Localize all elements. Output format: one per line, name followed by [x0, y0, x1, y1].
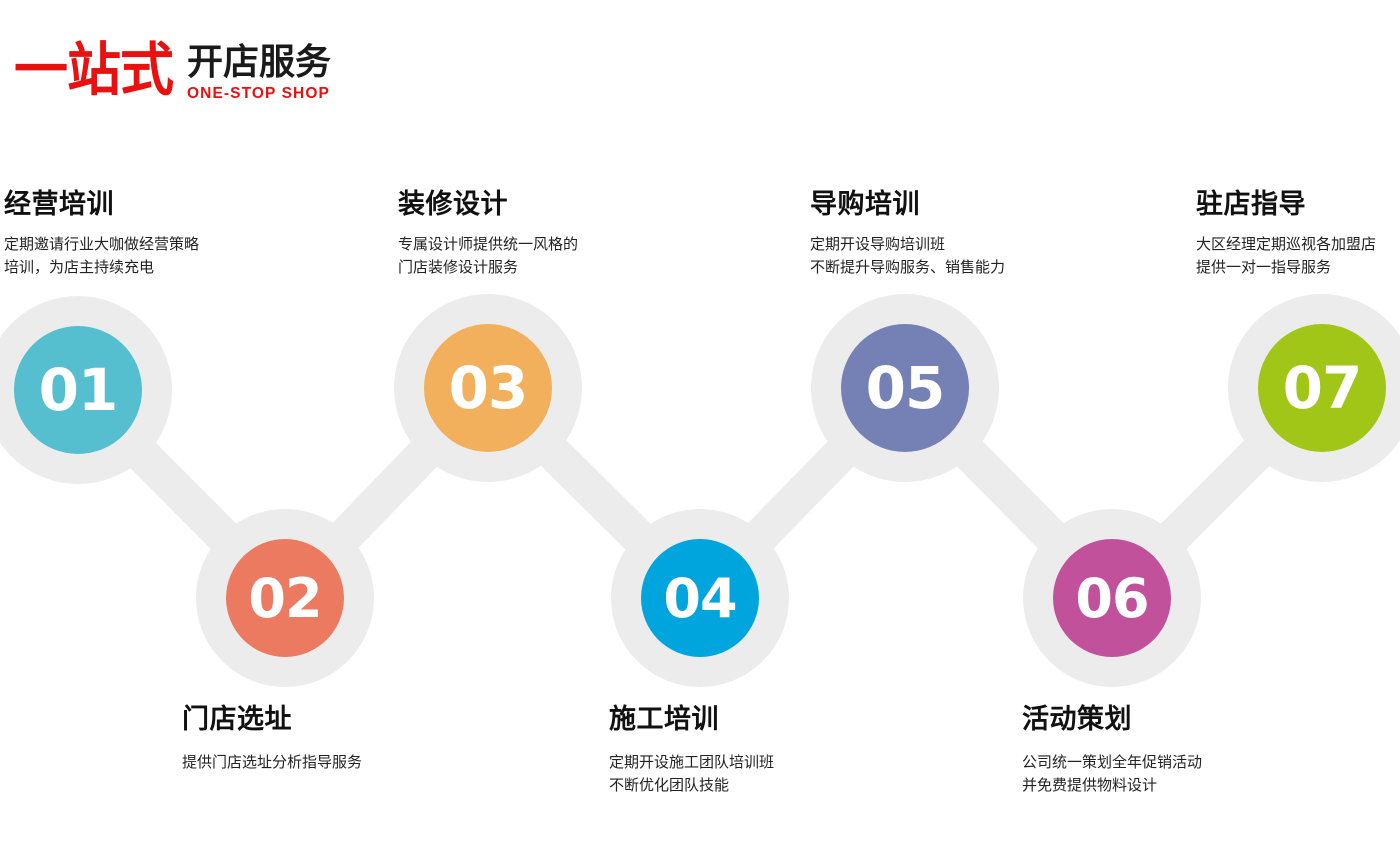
step-text-05: 导购培训 定期开设导购培训班 不断提升导购服务、销售能力 — [810, 190, 1210, 279]
step-bubble-07[interactable]: 07 — [1258, 324, 1386, 452]
step-title-01: 经营培训 — [4, 190, 374, 220]
step-desc-01: 定期邀请行业大咖做经营策略 培训，为店主持续充电 — [4, 233, 374, 280]
step-title-07: 驻店指导 — [1196, 190, 1400, 220]
step-bubble-04[interactable]: 04 — [641, 539, 759, 657]
step-title-02: 门店选址 — [182, 705, 512, 735]
logo-english-text: ONE-STOP SHOP — [187, 85, 331, 103]
step-bubble-05[interactable]: 05 — [841, 324, 969, 452]
step-desc-03: 专属设计师提供统一风格的 门店装修设计服务 — [398, 233, 778, 280]
step-text-02: 门店选址 提供门店选址分析指导服务 — [182, 705, 512, 774]
logo-primary-text: 一站式 — [14, 42, 173, 99]
step-bubble-03[interactable]: 03 — [424, 324, 552, 452]
brand-logo: 一站式 开店服务 ONE-STOP SHOP — [14, 42, 331, 103]
logo-text-group: 开店服务 ONE-STOP SHOP — [187, 42, 331, 103]
step-text-06: 活动策划 公司统一策划全年促销活动 并免费提供物料设计 — [1022, 705, 1362, 797]
step-desc-07: 大区经理定期巡视各加盟店 提供一对一指导服务 — [1196, 233, 1400, 280]
step-text-04: 施工培训 定期开设施工团队培训班 不断优化团队技能 — [609, 705, 949, 797]
step-bubble-02[interactable]: 02 — [226, 539, 344, 657]
step-desc-04: 定期开设施工团队培训班 不断优化团队技能 — [609, 751, 949, 798]
logo-secondary-text: 开店服务 — [187, 44, 331, 82]
step-text-03: 装修设计 专属设计师提供统一风格的 门店装修设计服务 — [398, 190, 778, 279]
step-title-04: 施工培训 — [609, 705, 949, 735]
step-text-01: 经营培训 定期邀请行业大咖做经营策略 培训，为店主持续充电 — [4, 190, 374, 279]
step-desc-05: 定期开设导购培训班 不断提升导购服务、销售能力 — [810, 233, 1210, 280]
step-desc-06: 公司统一策划全年促销活动 并免费提供物料设计 — [1022, 751, 1362, 798]
step-title-03: 装修设计 — [398, 190, 778, 220]
step-title-06: 活动策划 — [1022, 705, 1362, 735]
step-text-07: 驻店指导 大区经理定期巡视各加盟店 提供一对一指导服务 — [1196, 190, 1400, 279]
step-desc-02: 提供门店选址分析指导服务 — [182, 751, 512, 774]
step-title-05: 导购培训 — [810, 190, 1210, 220]
step-bubble-01[interactable]: 01 — [14, 326, 142, 454]
step-bubble-06[interactable]: 06 — [1053, 539, 1171, 657]
